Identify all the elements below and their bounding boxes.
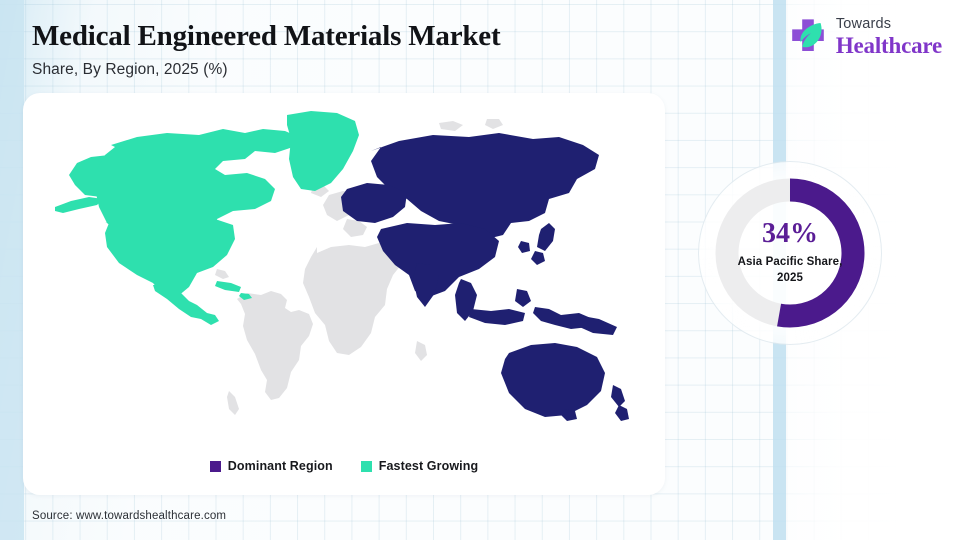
- background-left-band: [0, 0, 24, 540]
- logo-text-healthcare: Healthcare: [836, 34, 942, 57]
- logo-wordmark: Towards Healthcare: [836, 17, 942, 57]
- source-note: Source: www.towardshealthcare.com: [32, 510, 226, 522]
- medical-cross-leaf-icon: [787, 16, 829, 58]
- legend-label: Dominant Region: [228, 459, 333, 473]
- legend-label: Fastest Growing: [379, 459, 478, 473]
- donut-svg: [705, 168, 875, 338]
- header: Medical Engineered Materials Market Shar…: [32, 20, 500, 79]
- legend-swatch-icon: [361, 461, 372, 472]
- map-legend: Dominant Region Fastest Growing: [23, 459, 665, 473]
- legend-item-fastest-growing: Fastest Growing: [361, 459, 478, 473]
- donut-chart: 34% Asia Pacific Share, 2025: [705, 168, 875, 338]
- page-subtitle: Share, By Region, 2025 (%): [32, 61, 500, 79]
- donut-value-arc: [779, 190, 853, 316]
- world-map: [41, 103, 651, 433]
- brand-logo: Towards Healthcare: [787, 16, 942, 58]
- legend-item-dominant-region: Dominant Region: [210, 459, 333, 473]
- legend-swatch-icon: [210, 461, 221, 472]
- map-card: Dominant Region Fastest Growing: [23, 93, 665, 495]
- logo-text-towards: Towards: [836, 17, 942, 32]
- page-title: Medical Engineered Materials Market: [32, 20, 500, 53]
